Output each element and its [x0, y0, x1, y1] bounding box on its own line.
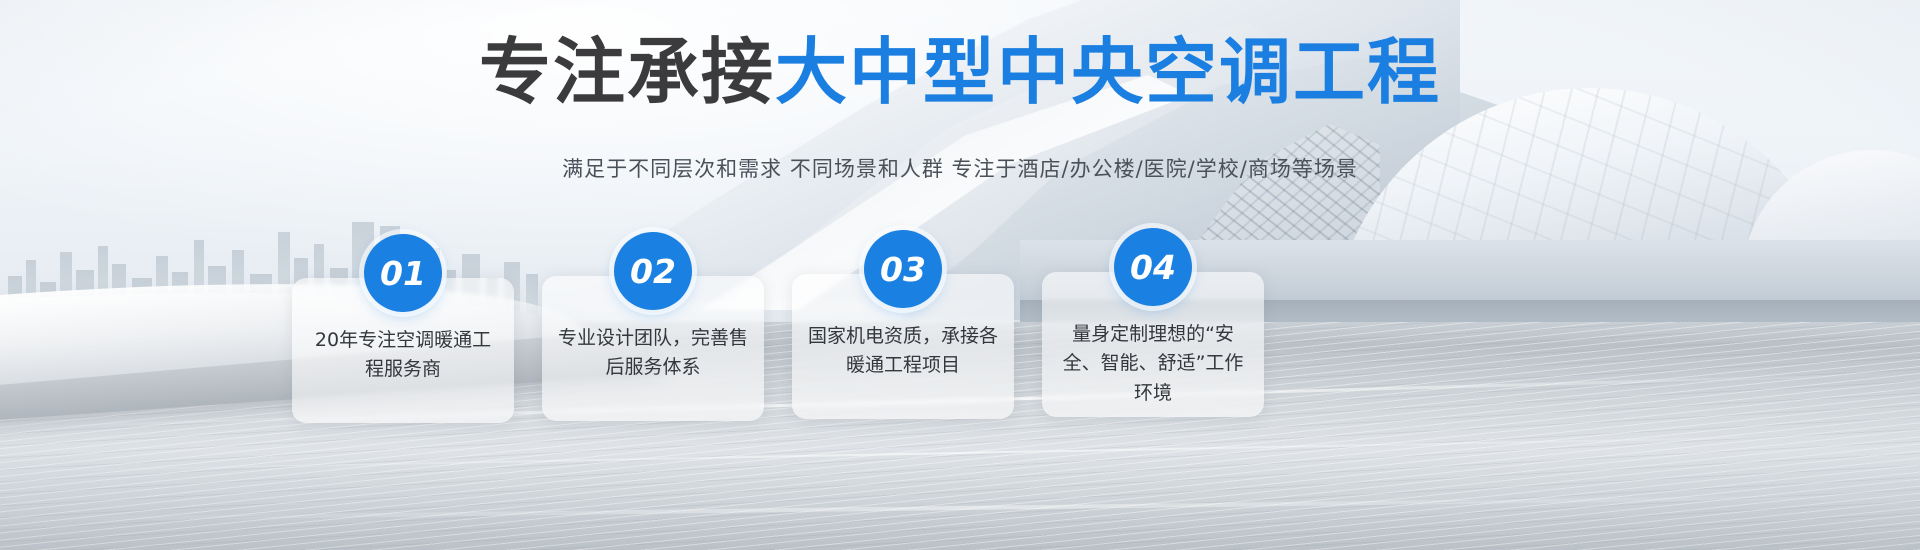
- headline-accent-text: 大中型中央空调工程: [775, 30, 1441, 114]
- feature-card-list: 01 20年专注空调暖通工程服务商 02 专业设计团队，完善售后服务体系 03 …: [292, 278, 1292, 438]
- feature-card[interactable]: 02 专业设计团队，完善售后服务体系: [542, 276, 764, 421]
- badge-circle: 03: [864, 230, 942, 308]
- hero-banner: 专注承接大中型中央空调工程 满足于不同层次和需求 不同场景和人群 专注于酒店/办…: [0, 0, 1920, 550]
- badge-circle: 01: [364, 234, 442, 312]
- feature-card-text: 专业设计团队，完善售后服务体系: [556, 324, 750, 383]
- badge-circle: 02: [614, 232, 692, 310]
- headline-dark-text: 专注承接: [479, 30, 775, 114]
- badge-circle: 04: [1114, 228, 1192, 306]
- feature-card[interactable]: 01 20年专注空调暖通工程服务商: [292, 278, 514, 423]
- feature-card-text: 20年专注空调暖通工程服务商: [306, 326, 500, 385]
- page-title: 专注承接大中型中央空调工程: [0, 36, 1920, 108]
- badge-number: 02: [630, 252, 676, 291]
- feature-card[interactable]: 03 国家机电资质，承接各暖通工程项目: [792, 274, 1014, 419]
- feature-card[interactable]: 04 量身定制理想的“安全、智能、舒适”工作环境: [1042, 272, 1264, 417]
- badge-number: 03: [880, 250, 926, 289]
- headline-container: 专注承接大中型中央空调工程: [0, 36, 1920, 108]
- feature-card-text: 量身定制理想的“安全、智能、舒适”工作环境: [1056, 320, 1250, 408]
- badge-number: 04: [1130, 248, 1176, 287]
- badge-number: 01: [380, 254, 426, 293]
- feature-card-text: 国家机电资质，承接各暖通工程项目: [806, 322, 1000, 381]
- page-subtitle: 满足于不同层次和需求 不同场景和人群 专注于酒店/办公楼/医院/学校/商场等场景: [0, 153, 1920, 183]
